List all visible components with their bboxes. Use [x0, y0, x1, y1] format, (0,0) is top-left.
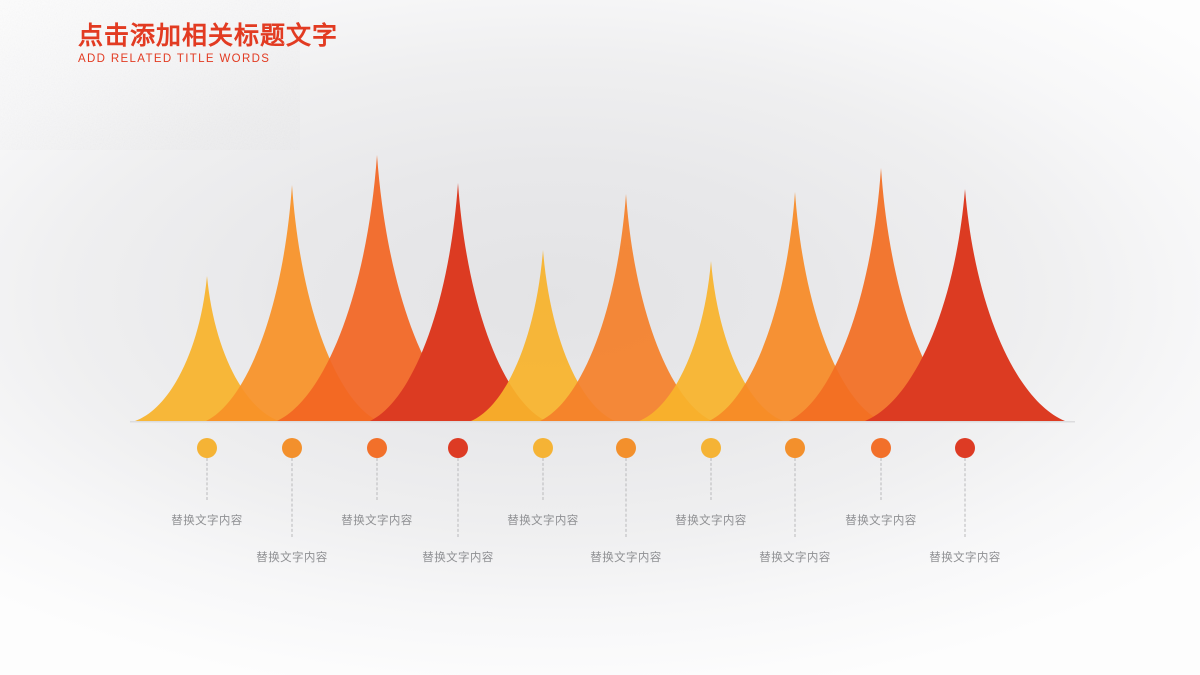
marker-dot[interactable] — [701, 438, 721, 458]
marker-dot[interactable] — [785, 438, 805, 458]
node-label[interactable]: 替换文字内容 — [845, 512, 916, 528]
node-label[interactable]: 替换文字内容 — [171, 512, 242, 528]
leader-line — [377, 458, 378, 500]
leader-line — [292, 458, 293, 537]
node-label[interactable]: 替换文字内容 — [507, 512, 578, 528]
node-label[interactable]: 替换文字内容 — [929, 549, 1000, 565]
node-label[interactable]: 替换文字内容 — [675, 512, 746, 528]
node-label[interactable]: 替换文字内容 — [341, 512, 412, 528]
leader-line — [458, 458, 459, 537]
marker-dot[interactable] — [282, 438, 302, 458]
marker-dot[interactable] — [616, 438, 636, 458]
cone-series — [135, 155, 1065, 421]
node-label[interactable]: 替换文字内容 — [256, 549, 327, 565]
marker-dot[interactable] — [367, 438, 387, 458]
leader-line — [207, 458, 208, 500]
node-label[interactable]: 替换文字内容 — [759, 549, 830, 565]
marker-dot[interactable] — [533, 438, 553, 458]
leader-line — [626, 458, 627, 537]
slide-canvas: 点击添加相关标题文字 ADD RELATED TITLE WORDS 替换文字内… — [0, 0, 1200, 675]
leader-line — [543, 458, 544, 500]
marker-dot[interactable] — [197, 438, 217, 458]
cone-spike-chart — [0, 0, 1200, 675]
leader-line — [795, 458, 796, 537]
marker-dot[interactable] — [955, 438, 975, 458]
leader-line — [965, 458, 966, 537]
marker-dot[interactable] — [448, 438, 468, 458]
chart-baseline — [130, 421, 1075, 423]
leader-line — [881, 458, 882, 500]
node-label[interactable]: 替换文字内容 — [422, 549, 493, 565]
marker-dot[interactable] — [871, 438, 891, 458]
node-label[interactable]: 替换文字内容 — [590, 549, 661, 565]
leader-line — [711, 458, 712, 500]
